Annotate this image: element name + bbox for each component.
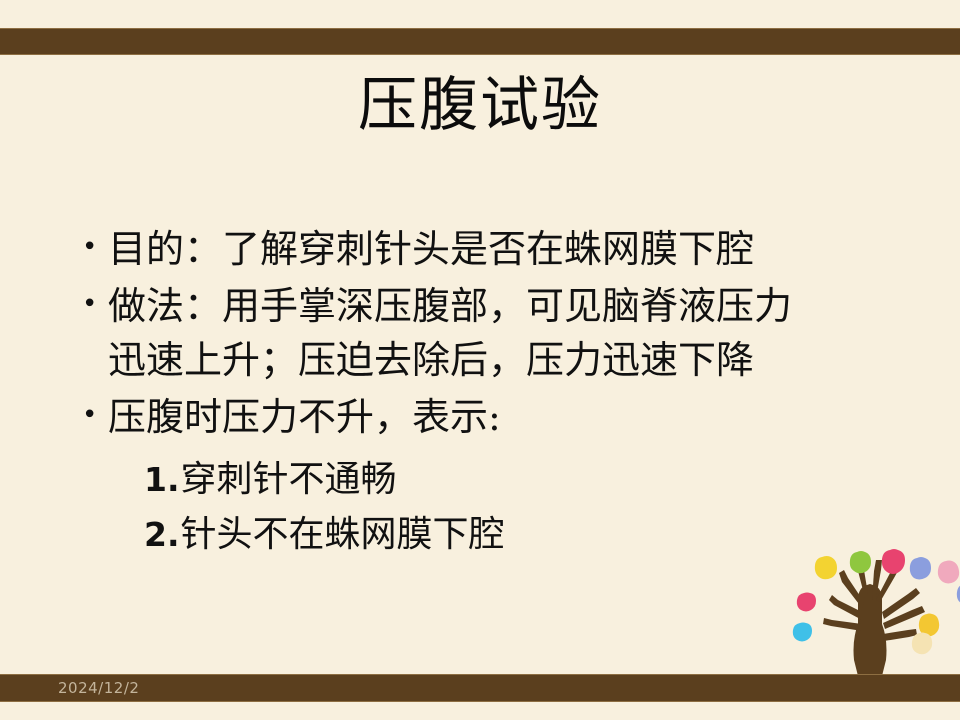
list-item: 1. 穿刺针不通畅 <box>74 453 904 508</box>
list-item-index: 2. <box>144 510 180 560</box>
date-stamp: 2024/12/2 <box>58 679 139 697</box>
numbered-list: 1. 穿刺针不通畅 2. 针头不在蛛网膜下腔 <box>74 453 904 562</box>
leaf-cyan <box>793 623 812 642</box>
bullet-text-purpose: 目的：了解穿刺针头是否在蛛网膜下腔 <box>108 222 904 277</box>
bullet-marker-icon: • <box>74 390 108 441</box>
leaf-magenta <box>797 593 816 612</box>
page-title: 压腹试验 <box>0 74 960 136</box>
bullet-item-method: • 做法：用手掌深压腹部，可见脑脊液压力 迅速上升；压迫去除后，压力迅速下降 <box>74 279 904 388</box>
tree-icon <box>786 528 960 676</box>
leaf-green <box>850 551 871 573</box>
top-decorative-band <box>0 28 960 55</box>
slide-body: • 目的：了解穿刺针头是否在蛛网膜下腔 • 做法：用手掌深压腹部，可见脑脊液压力… <box>74 222 904 562</box>
bullet-marker-icon: • <box>74 279 108 330</box>
bottom-decorative-band <box>0 674 960 702</box>
slide-canvas: 压腹试验 • 目的：了解穿刺针头是否在蛛网膜下腔 • 做法：用手掌深压腹部，可见… <box>0 0 960 720</box>
bullet-marker-icon: • <box>74 222 108 273</box>
list-item-index: 1. <box>144 455 180 505</box>
leaf-pink <box>882 549 905 574</box>
leaf-lightpink <box>938 561 959 584</box>
bullet-item-purpose: • 目的：了解穿刺针头是否在蛛网膜下腔 <box>74 222 904 277</box>
bullet-text-method-line1: 做法：用手掌深压腹部，可见脑脊液压力 <box>108 279 904 334</box>
list-item-label: 针头不在蛛网膜下腔 <box>181 508 505 563</box>
tree-illustration <box>786 528 960 676</box>
bullet-item-result: • 压腹时压力不升，表示: <box>74 390 904 445</box>
leaf-yellow <box>815 556 837 579</box>
bullet-text-method-line2: 迅速上升；压迫去除后，压力迅速下降 <box>108 333 904 388</box>
list-item: 2. 针头不在蛛网膜下腔 <box>74 508 904 563</box>
bullet-text-method: 做法：用手掌深压腹部，可见脑脊液压力 迅速上升；压迫去除后，压力迅速下降 <box>108 279 904 388</box>
leaf-cream <box>912 633 932 655</box>
bullet-text-result: 压腹时压力不升，表示: <box>108 390 904 445</box>
list-item-label: 穿刺针不通畅 <box>181 453 397 508</box>
leaf-blue <box>910 557 931 580</box>
